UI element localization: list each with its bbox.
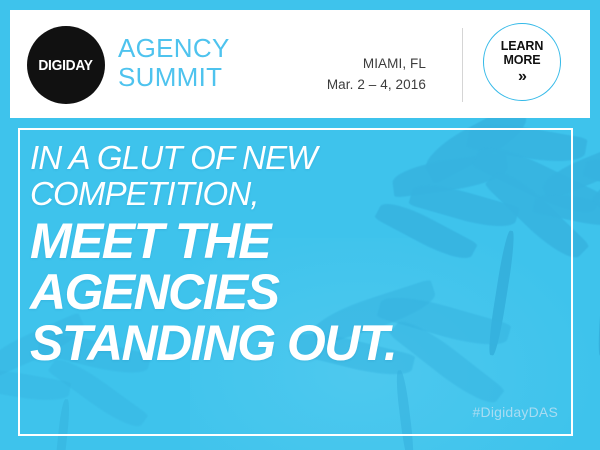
hero-section: IN A GLUT OF NEW COMPETITION, MEET THE A… (0, 118, 600, 450)
event-title-line-2: SUMMIT (118, 63, 230, 92)
double-chevron-right-icon: » (518, 69, 526, 85)
digiday-logo[interactable]: DIGIDAY (27, 26, 105, 104)
headline-line-1: IN A GLUT OF NEW (30, 140, 396, 176)
digiday-agency-summit-banner: DIGIDAY AGENCY SUMMIT MIAMI, FL Mar. 2 –… (0, 0, 600, 450)
headline-line-3: MEET THE (30, 217, 396, 266)
headline-line-5: STANDING OUT. (30, 319, 396, 368)
headline-line-2: COMPETITION, (30, 176, 396, 212)
event-dates: Mar. 2 – 4, 2016 (327, 75, 426, 96)
event-title-line-1: AGENCY (118, 34, 230, 63)
headline-line-4: AGENCIES (30, 268, 396, 317)
event-location: MIAMI, FL (327, 54, 426, 75)
logo-wordmark: DIGIDAY (39, 57, 93, 74)
event-hashtag: #DigidayDAS (473, 404, 558, 420)
vertical-divider (462, 28, 463, 102)
event-details: MIAMI, FL Mar. 2 – 4, 2016 (327, 54, 426, 96)
learn-more-button[interactable]: LEARN MORE » (483, 23, 561, 101)
cta-label-line-2: MORE (503, 53, 540, 67)
cta-label-line-1: LEARN (501, 39, 544, 53)
logo-circle-icon: DIGIDAY (27, 26, 105, 104)
event-title: AGENCY SUMMIT (118, 34, 230, 92)
banner-header: DIGIDAY AGENCY SUMMIT MIAMI, FL Mar. 2 –… (10, 10, 590, 118)
headline: IN A GLUT OF NEW COMPETITION, MEET THE A… (30, 140, 396, 368)
